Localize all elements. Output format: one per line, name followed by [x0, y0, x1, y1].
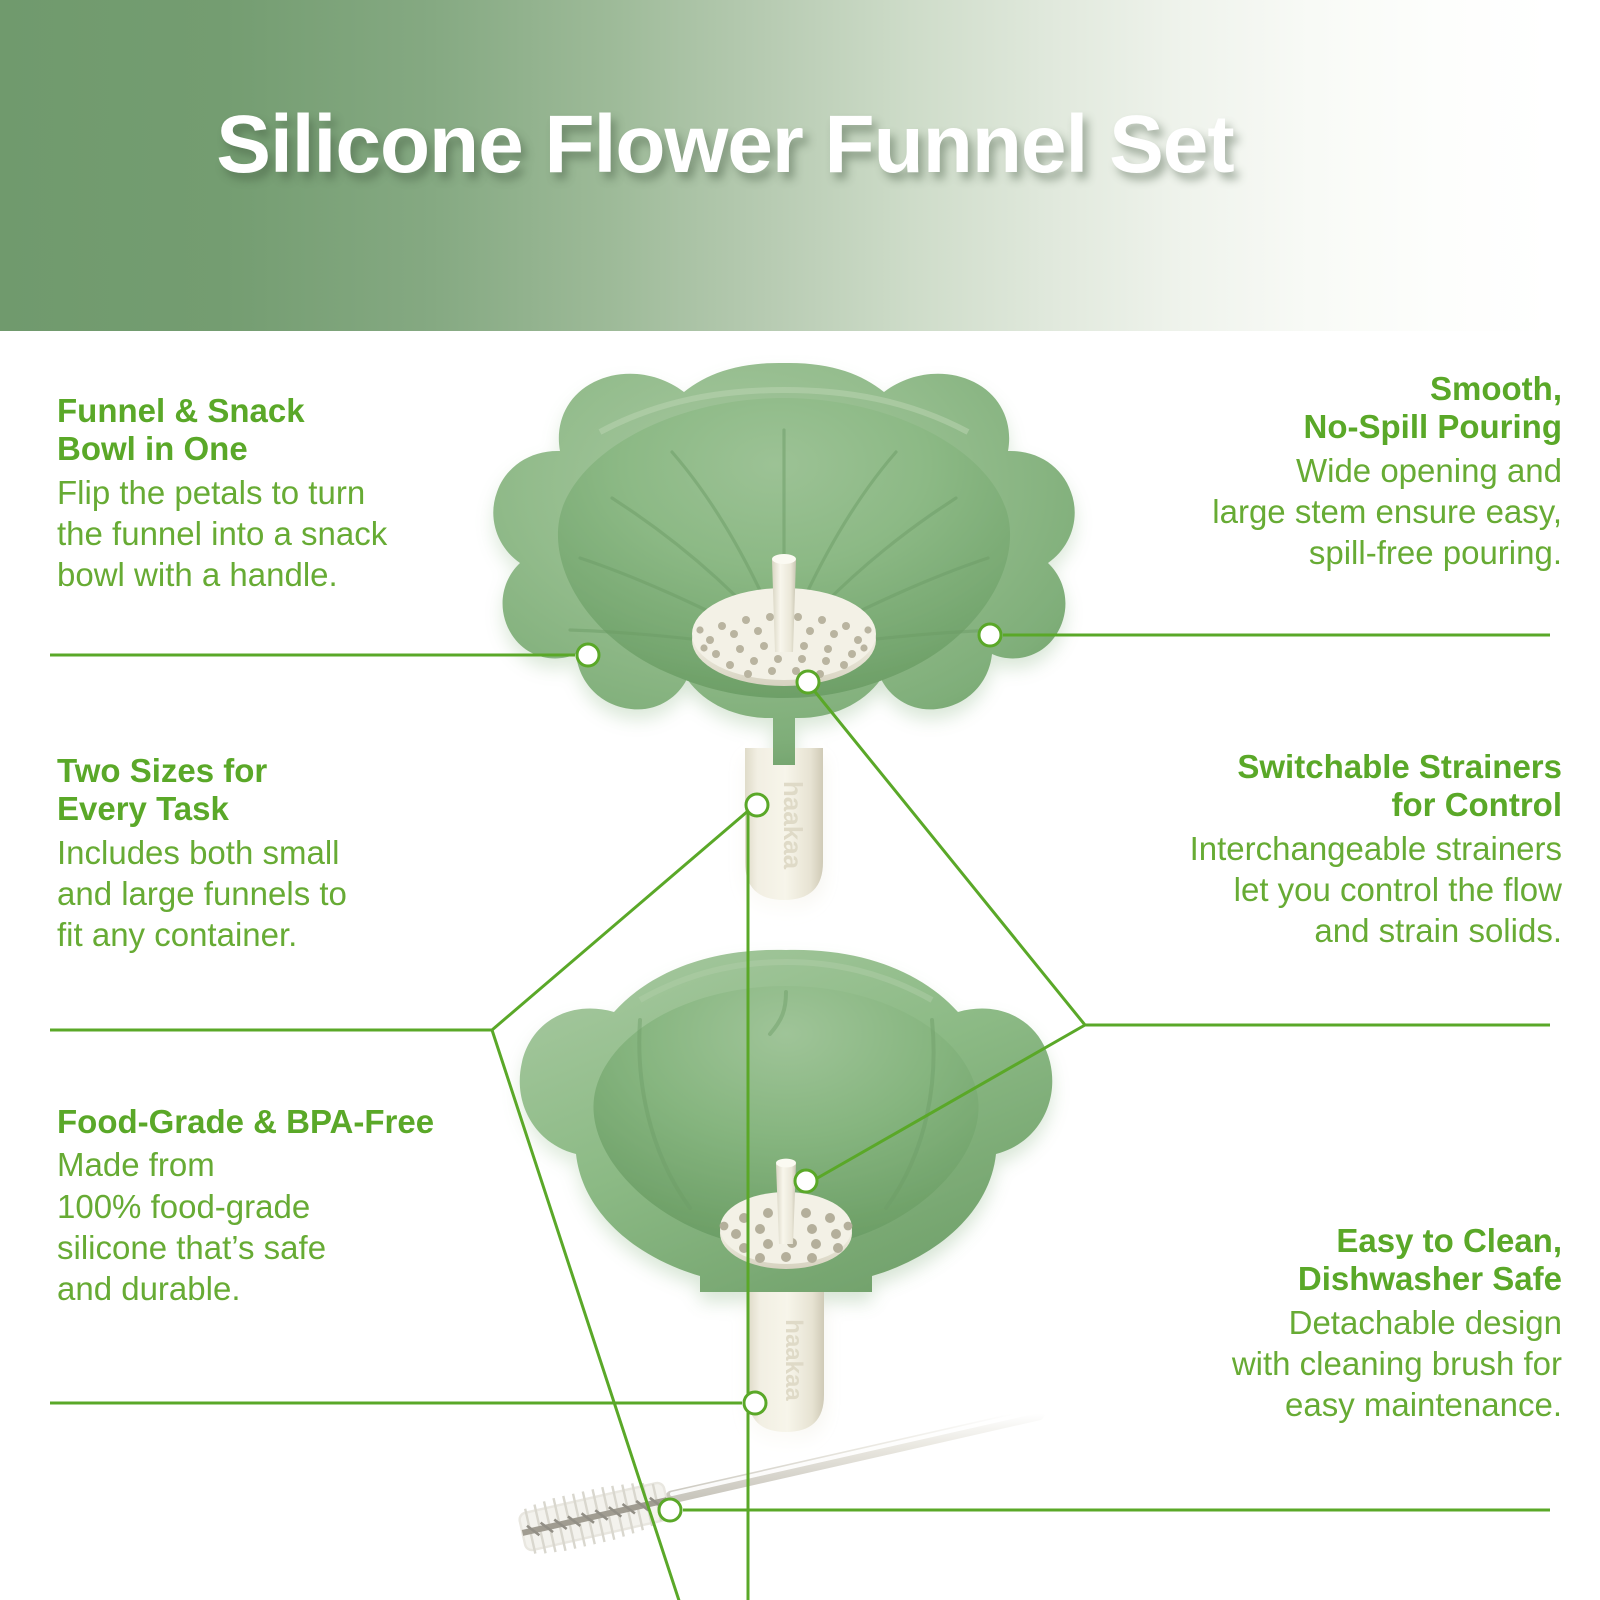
- feature-title: Two Sizes for Every Task: [57, 752, 517, 829]
- cleaning-brush: [516, 1411, 1038, 1559]
- feature-body: Detachable design with cleaning brush fo…: [1042, 1302, 1562, 1426]
- feature-body: Interchangeable strainers let you contro…: [1017, 828, 1562, 952]
- feature-funnel-snack-bowl: Funnel & Snack Bowl in One Flip the peta…: [57, 392, 517, 595]
- feature-title: Smooth, No-Spill Pouring: [1042, 370, 1562, 447]
- feature-title: Food-Grade & BPA-Free: [57, 1103, 557, 1141]
- small-tulip-funnel: haakaa: [520, 950, 1053, 1432]
- feature-body: Made from 100% food-grade silicone that’…: [57, 1144, 557, 1309]
- feature-smooth-no-spill: Smooth, No-Spill Pouring Wide opening an…: [1042, 370, 1562, 573]
- feature-title: Easy to Clean, Dishwasher Safe: [1042, 1222, 1562, 1299]
- feature-switchable-strainers: Switchable Strainers for Control Interch…: [1017, 748, 1562, 951]
- brand-mark-small: haakaa: [780, 1319, 807, 1401]
- feature-body: Flip the petals to turn the funnel into …: [57, 472, 517, 596]
- brush-bristles: [516, 1474, 672, 1559]
- feature-easy-to-clean: Easy to Clean, Dishwasher Safe Detachabl…: [1042, 1222, 1562, 1425]
- large-lotus-funnel: haakaa: [493, 363, 1074, 900]
- feature-body: Includes both small and large funnels to…: [57, 832, 517, 956]
- brand-mark-large: haakaa: [778, 781, 808, 870]
- feature-food-grade: Food-Grade & BPA-Free Made from 100% foo…: [57, 1103, 557, 1309]
- feature-title: Switchable Strainers for Control: [1017, 748, 1562, 825]
- strainer-post-large: [772, 556, 796, 652]
- strainer-post-small: [776, 1161, 796, 1245]
- brush-handle: [672, 1414, 1038, 1497]
- feature-two-sizes: Two Sizes for Every Task Includes both s…: [57, 752, 517, 955]
- feature-title: Funnel & Snack Bowl in One: [57, 392, 517, 469]
- feature-body: Wide opening and large stem ensure easy,…: [1042, 450, 1562, 574]
